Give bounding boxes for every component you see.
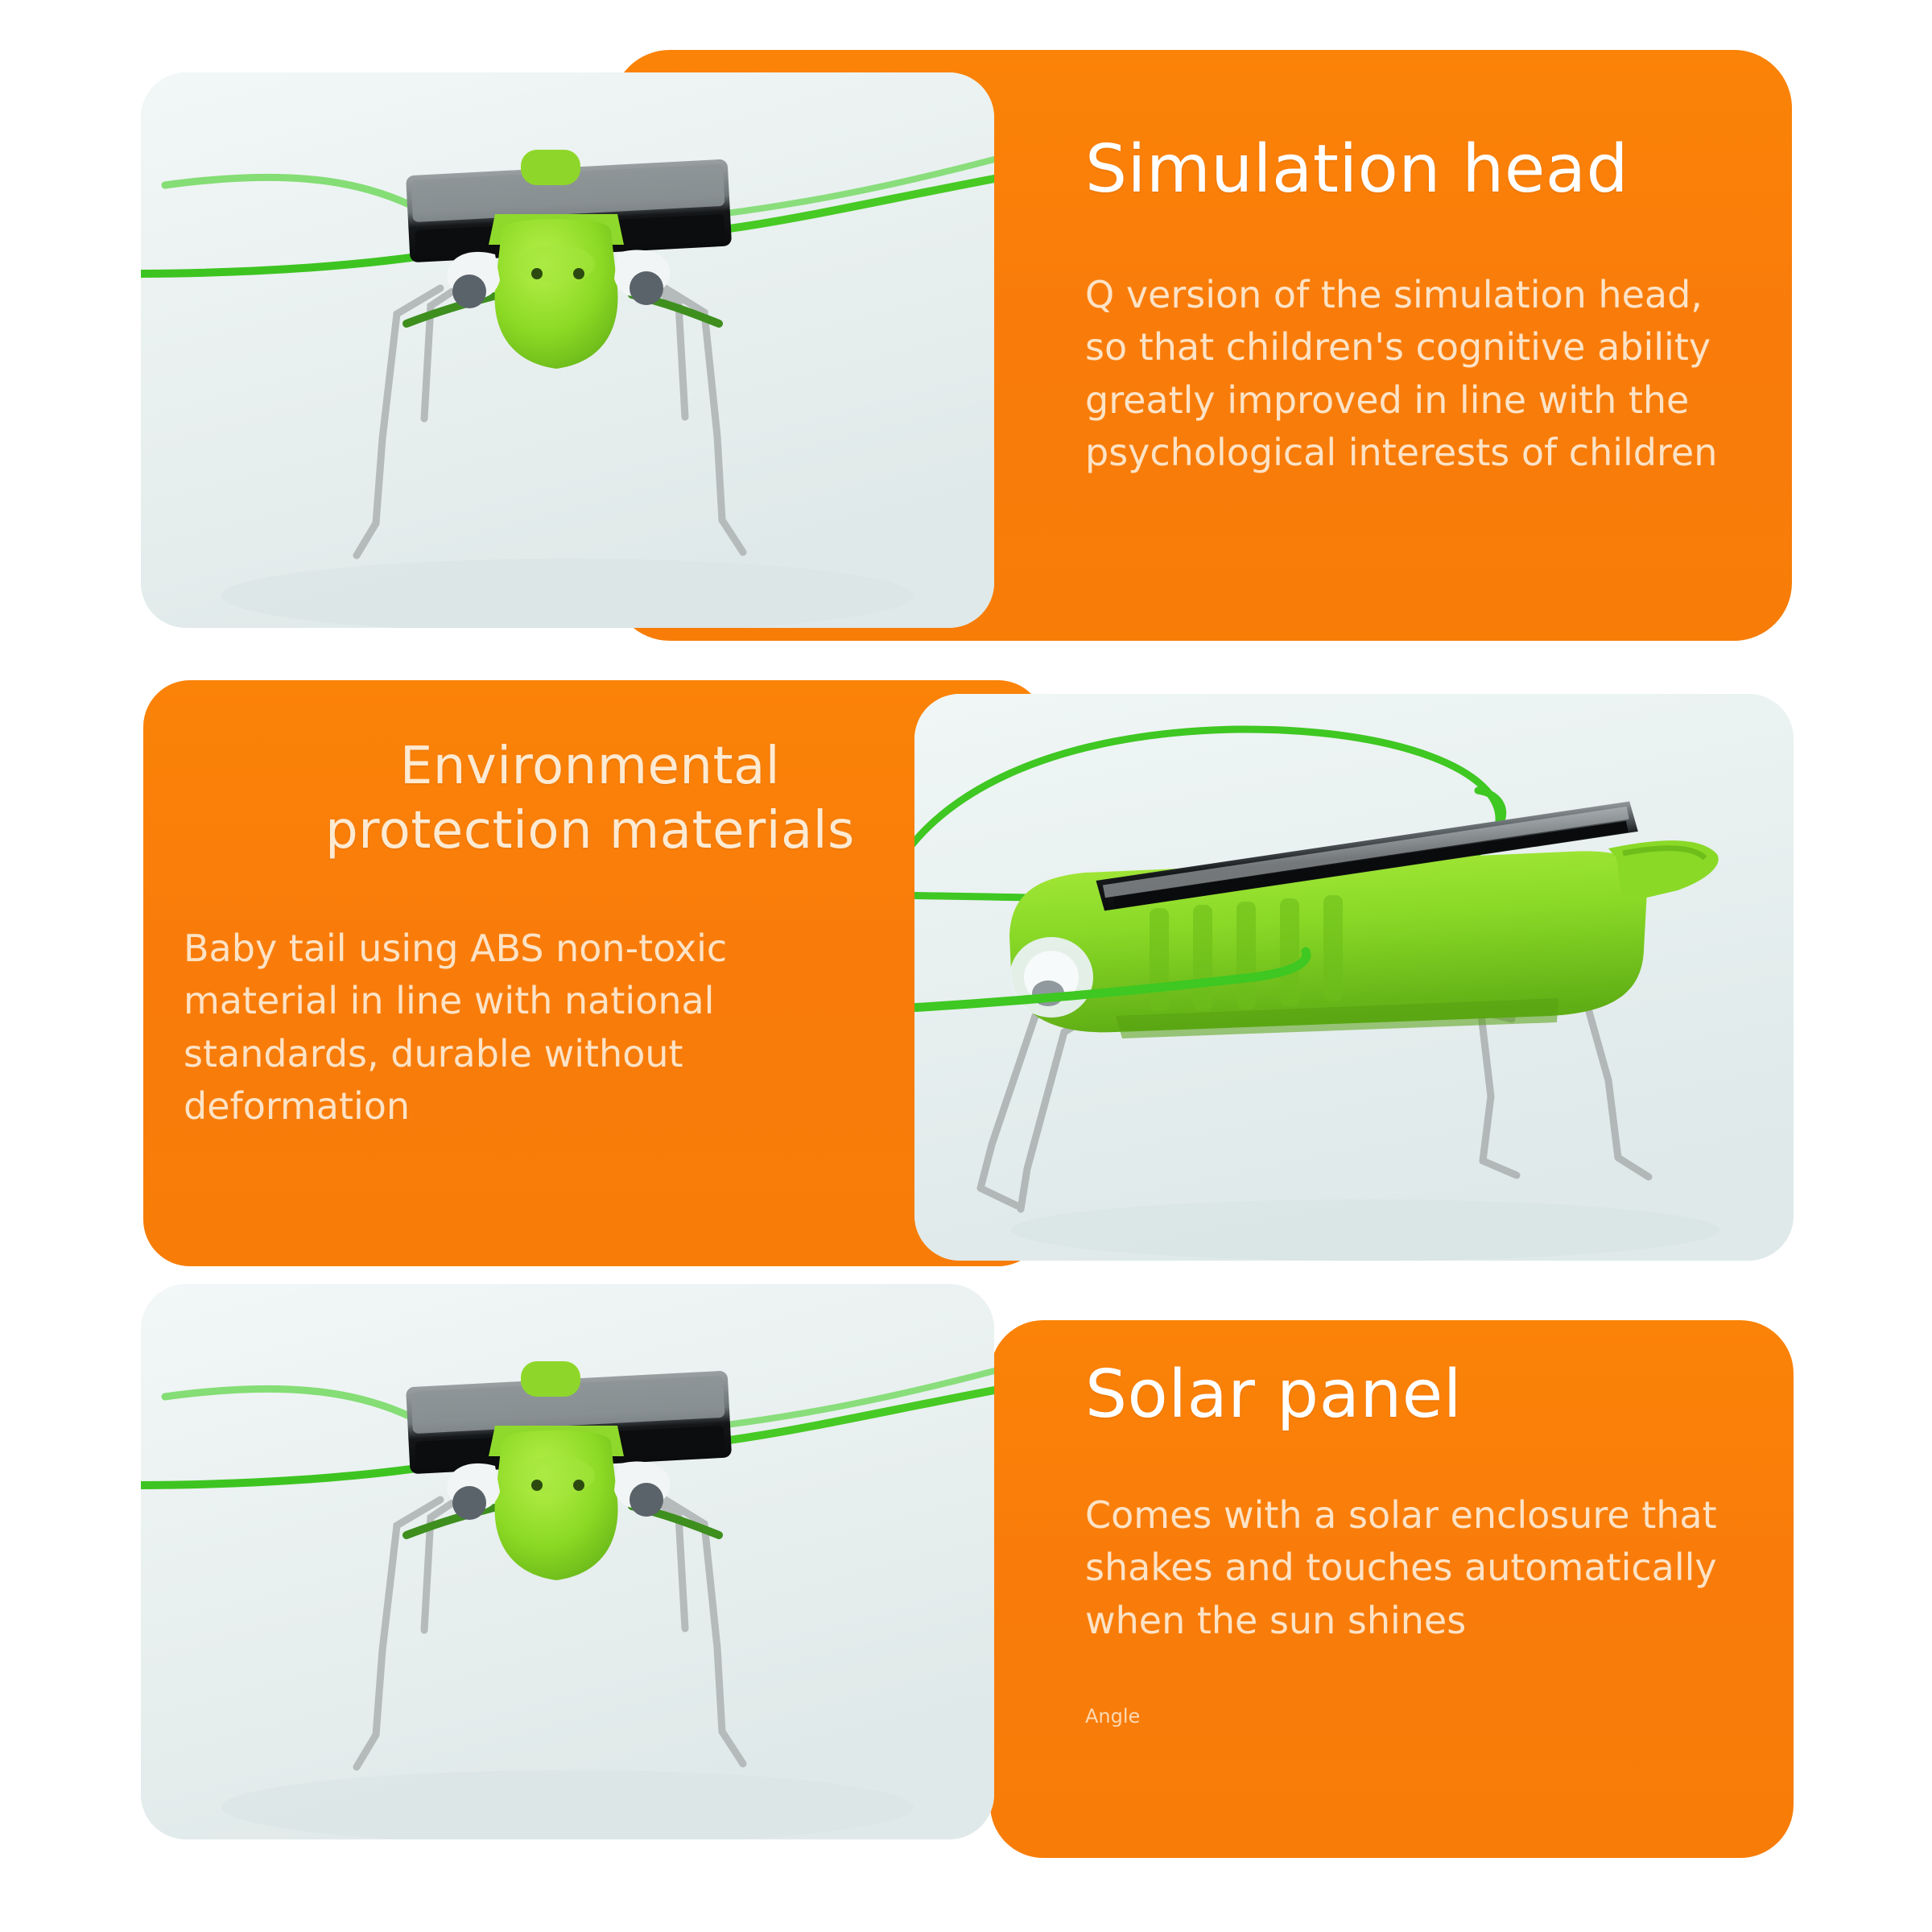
product-photo-side [914,694,1794,1261]
title-line: Environmental [184,734,997,799]
feature-description: Baby tail using ABS non-toxic material i… [184,923,997,1133]
feature-text-block: Simulation head Q version of the simulat… [1085,135,1745,479]
feature-description: Q version of the simulation head, so tha… [1085,269,1745,479]
feature-text-block: Environmental protection materials Baby … [184,734,997,1133]
description-line: material in line with national [184,975,997,1027]
title-line: protection materials [184,799,997,863]
description-line: shakes and touches automatically [1085,1542,1737,1594]
description-line: Baby tail using ABS non-toxic [184,923,997,975]
feature-text-block: Solar panel Comes with a solar enclosure… [1085,1360,1737,1731]
description-line: Q version of the simulation head, [1085,269,1745,321]
angle-note: Angle [1085,1703,1737,1731]
grasshopper-side-illustration [914,694,1794,1261]
description-line: deformation [184,1080,997,1133]
description-line: greatly improved in line with the [1085,374,1745,427]
feature-title: Environmental protection materials [184,734,997,863]
description-line: standards, durable without [184,1028,997,1080]
feature-description: Comes with a solar enclosure that shakes… [1085,1489,1737,1647]
description-line: psychological interests of children [1085,427,1745,479]
grasshopper-front-illustration [141,72,994,628]
feature-title: Simulation head [1085,135,1745,204]
feature-title: Solar panel [1085,1360,1737,1430]
product-feature-infographic: Simulation head Q version of the simulat… [0,0,1932,1932]
description-line: so that children's cognitive ability [1085,321,1745,374]
product-photo-front-bottom [141,1284,994,1839]
description-line: Comes with a solar enclosure that [1085,1489,1737,1542]
grasshopper-front-illustration [141,1284,994,1839]
description-line: when the sun shines [1085,1595,1737,1647]
product-photo-front-top [141,72,994,628]
